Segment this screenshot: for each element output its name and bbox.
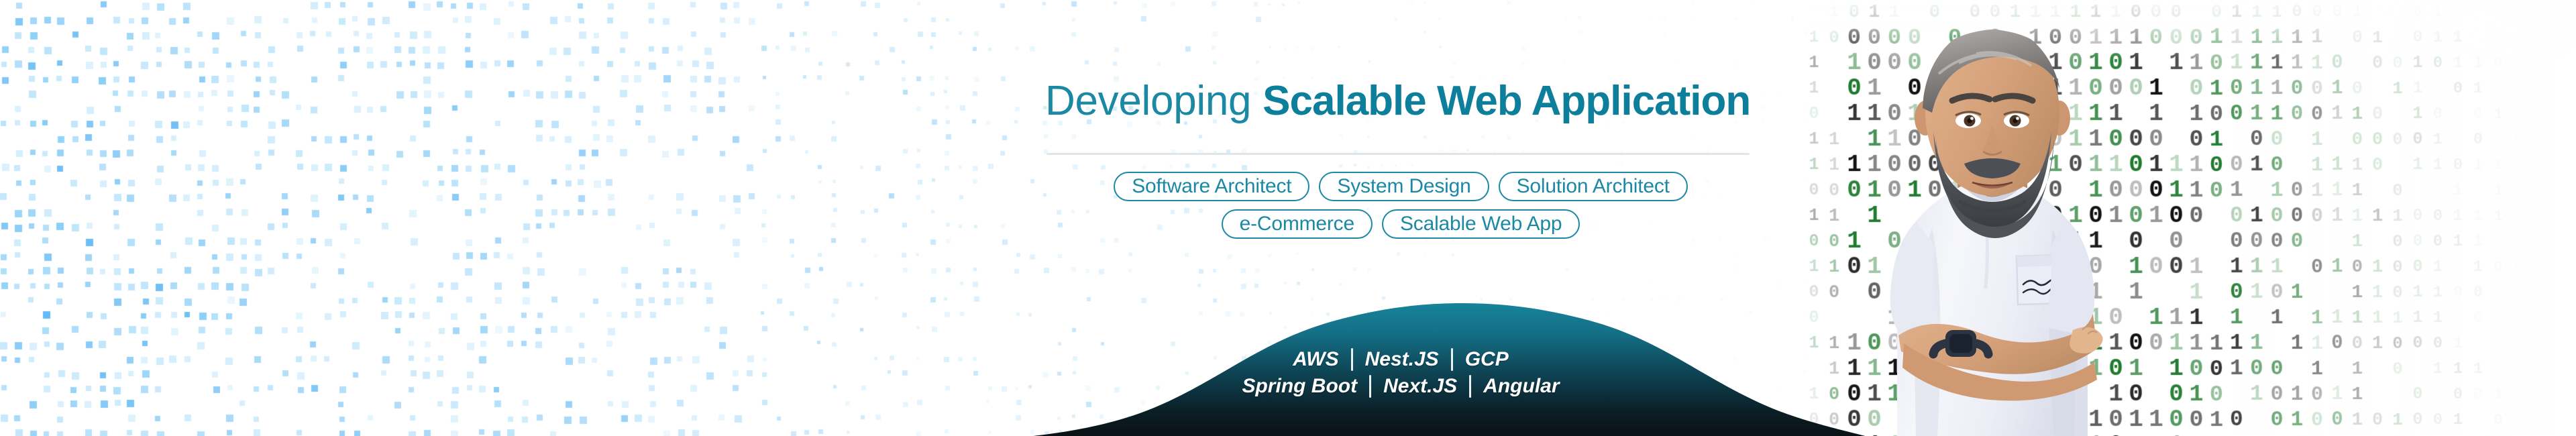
tag-list: Software Architect System Design Solutio… <box>1045 172 1756 247</box>
divider <box>1046 153 1750 155</box>
headline-light: Developing <box>1045 78 1251 124</box>
tag-row-1: Software Architect System Design Solutio… <box>1045 172 1756 201</box>
tag-solution-architect[interactable]: Solution Architect <box>1499 172 1688 201</box>
banner-root: Developing Scalable Web Application Soft… <box>0 0 2576 436</box>
content-column: Developing Scalable Web Application Soft… <box>1045 0 1756 436</box>
tag-software-architect[interactable]: Software Architect <box>1114 172 1309 201</box>
person-photo <box>1851 0 2133 436</box>
tag-row-2: e-Commerce Scalable Web App <box>1045 209 1756 239</box>
headline-strong: Scalable Web Application <box>1263 78 1750 124</box>
tag-system-design[interactable]: System Design <box>1319 172 1489 201</box>
tag-scalable-web-app[interactable]: Scalable Web App <box>1382 209 1580 239</box>
tag-e-commerce[interactable]: e-Commerce <box>1222 209 1373 239</box>
page-title: Developing Scalable Web Application <box>1045 79 1756 123</box>
